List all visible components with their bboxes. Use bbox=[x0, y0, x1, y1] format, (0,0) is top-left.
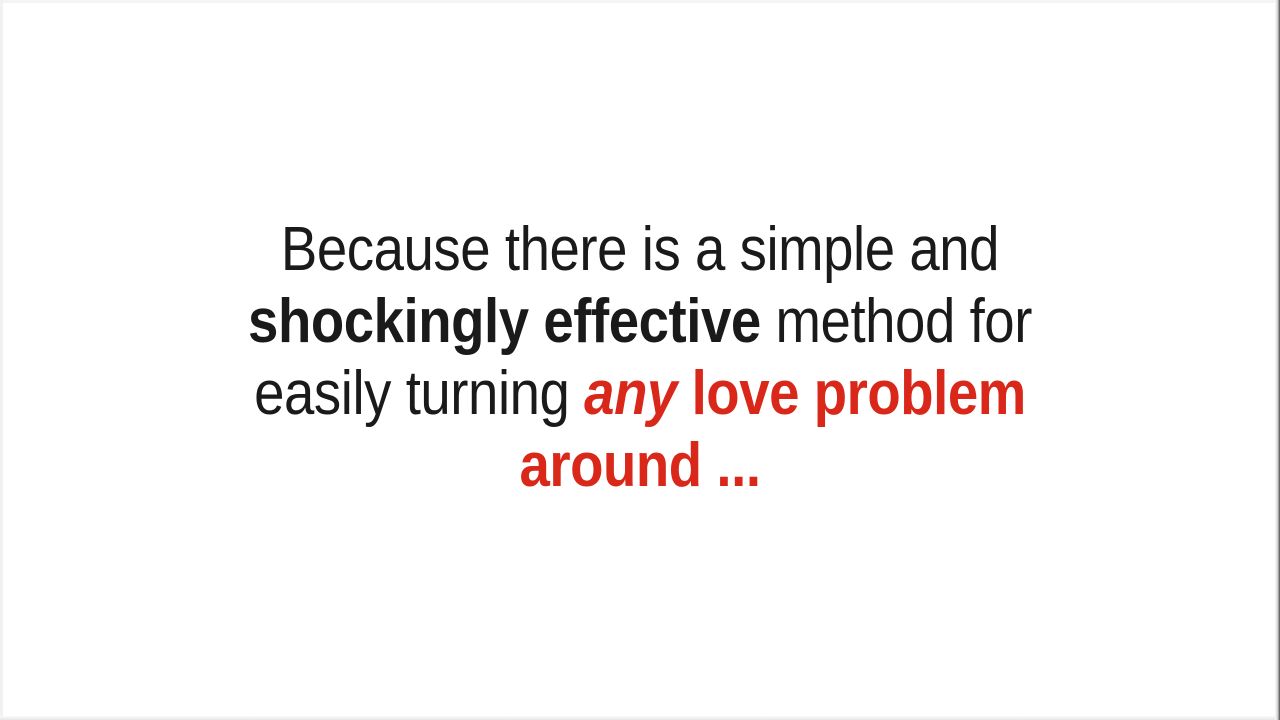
caption-line-4: around ... bbox=[200, 430, 1080, 502]
caption-segment-accent-italic: any bbox=[584, 359, 677, 428]
video-frame: Because there is a simple and shockingly… bbox=[0, 0, 1280, 720]
caption-segment-plain: Because there is a simple and bbox=[281, 215, 999, 284]
caption-segment-plain: easily turning bbox=[254, 359, 584, 428]
caption-segment-accent-bold: around ... bbox=[519, 431, 760, 500]
caption-segment-plain: method for bbox=[761, 287, 1032, 356]
caption-line-2: shockingly effective method for bbox=[200, 286, 1080, 358]
caption-block: Because there is a simple and shockingly… bbox=[200, 214, 1080, 502]
caption-line-1: Because there is a simple and bbox=[200, 214, 1080, 286]
caption-line-3: easily turning any love problem bbox=[200, 358, 1080, 430]
slide-stage: Because there is a simple and shockingly… bbox=[0, 0, 1280, 720]
caption-segment-accent-bold: love problem bbox=[677, 359, 1026, 428]
caption-segment-emphasis-bold: shockingly effective bbox=[248, 287, 761, 356]
